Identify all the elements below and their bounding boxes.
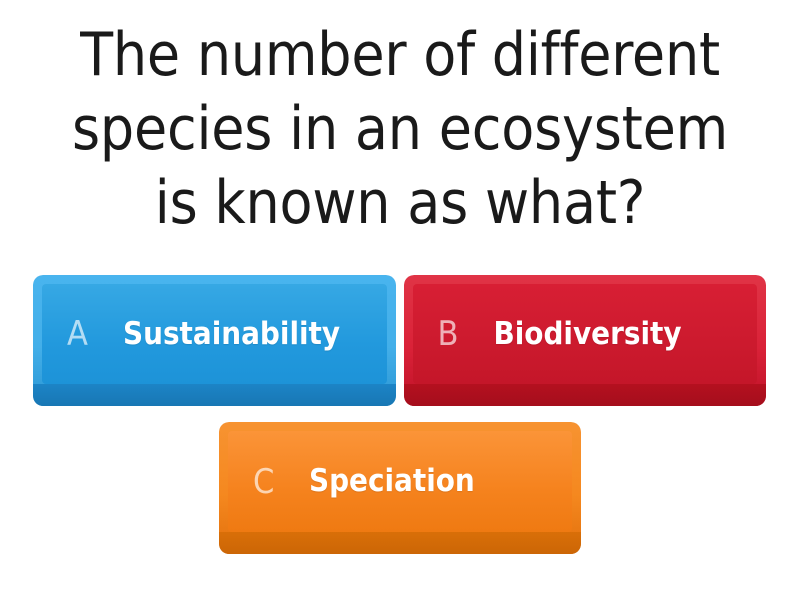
question-text: The number of different species in an ec…: [18, 18, 782, 240]
answer-b-letter: B: [438, 317, 494, 351]
answer-b-ledge: [404, 384, 767, 406]
answer-option-c[interactable]: C Speciation: [219, 422, 581, 554]
answer-c-content: C Speciation: [228, 431, 572, 532]
answer-c-label: Speciation: [309, 466, 475, 497]
answer-a-label: Sustainability: [123, 319, 340, 350]
answer-option-b[interactable]: B Biodiversity: [404, 275, 767, 406]
answer-option-a[interactable]: A Sustainability: [33, 275, 396, 406]
quiz-screen: The number of different species in an ec…: [0, 0, 800, 600]
answer-c-letter: C: [253, 465, 309, 499]
answer-row-bottom: C Speciation: [0, 422, 800, 554]
answer-c-ledge: [219, 532, 581, 554]
answer-a-ledge: [33, 384, 396, 406]
answer-b-label: Biodiversity: [494, 319, 682, 350]
answer-options-area: A Sustainability B Biodiversity: [0, 262, 800, 600]
question-area: The number of different species in an ec…: [0, 0, 800, 262]
answer-b-content: B Biodiversity: [413, 284, 758, 384]
answer-a-content: A Sustainability: [42, 284, 387, 384]
answer-row-top: A Sustainability B Biodiversity: [33, 275, 766, 406]
answer-a-letter: A: [67, 317, 123, 351]
